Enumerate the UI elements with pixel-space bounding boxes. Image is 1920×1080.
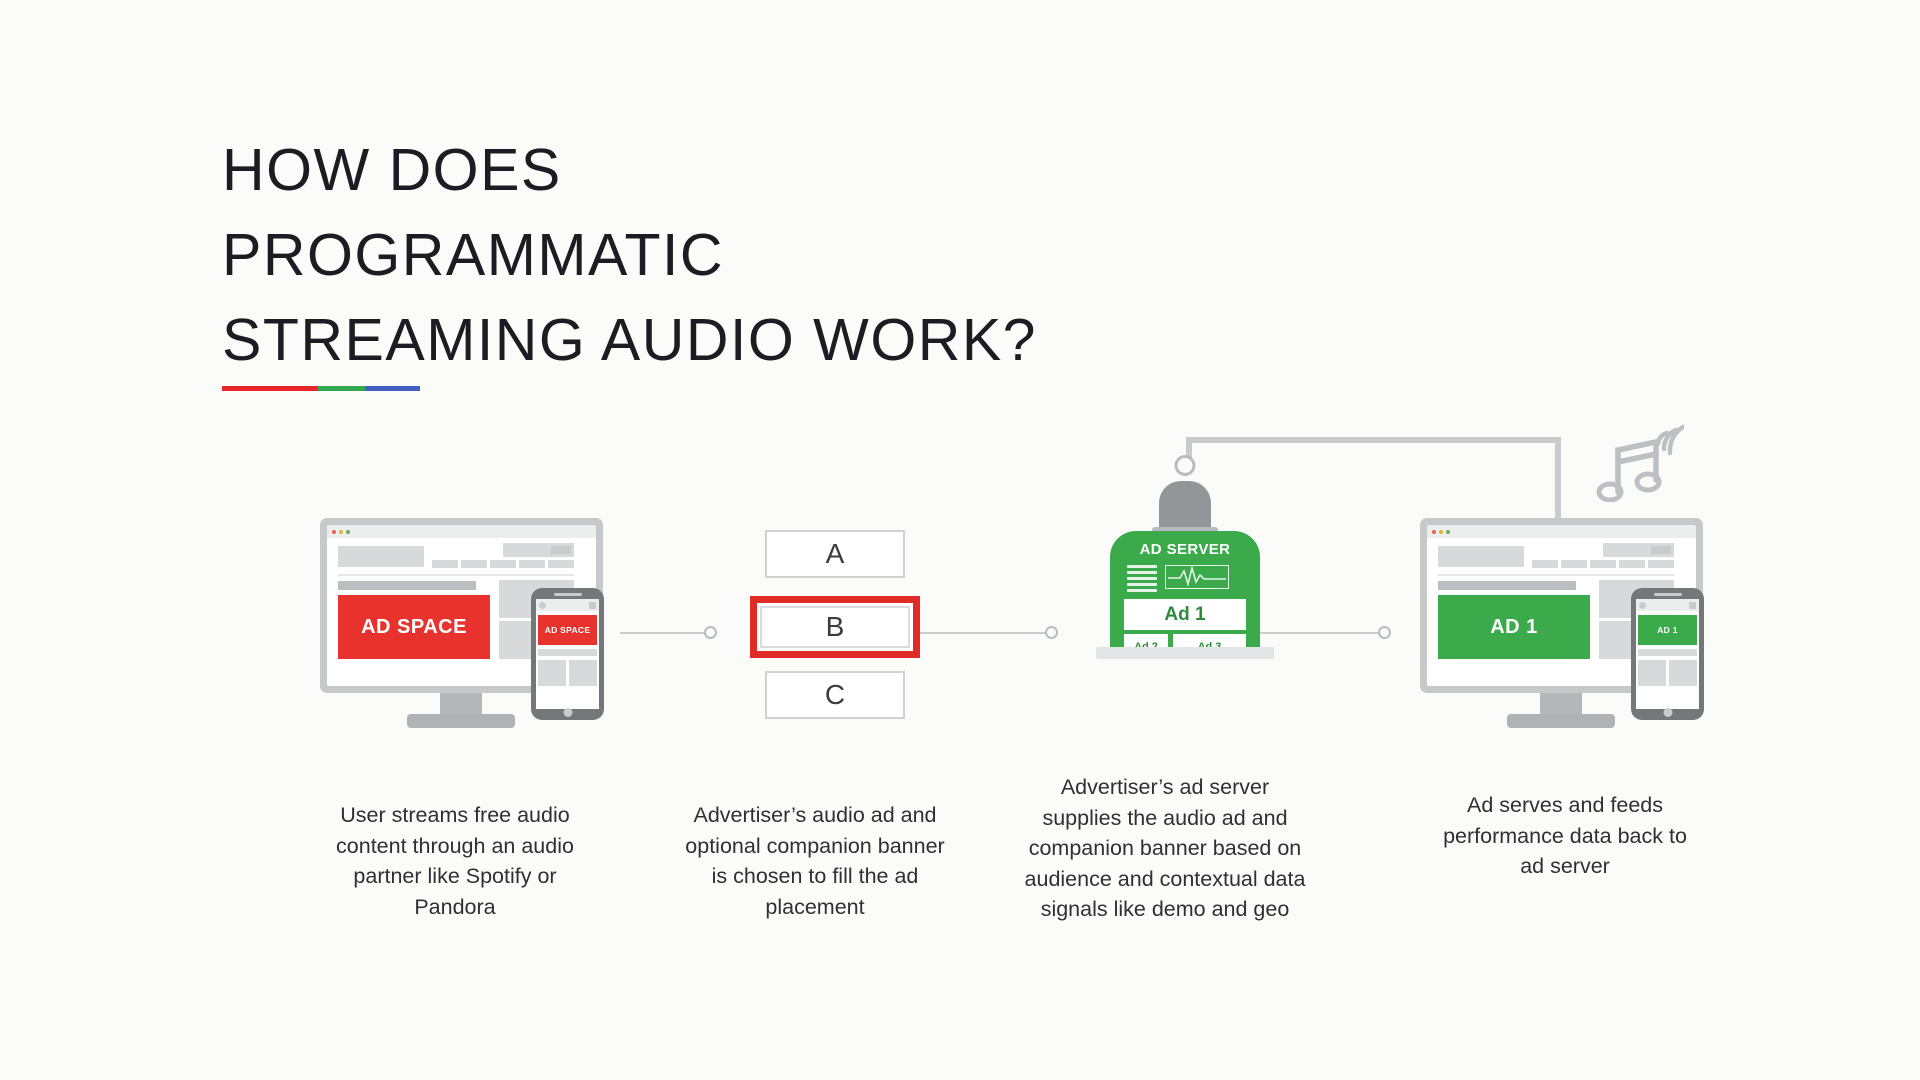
phone-browser-bar-2: [1636, 599, 1699, 611]
browser-dot-green: [346, 530, 350, 534]
music-note-icon: [1588, 422, 1684, 507]
page-nav-block-1: [1532, 560, 1558, 568]
browser-dot-green: [1446, 530, 1450, 534]
process-diagram: AD SPACE AD SPACE: [0, 0, 1920, 1080]
browser-dot-yellow: [339, 530, 343, 534]
phone-content-bar: [1638, 649, 1697, 656]
page-nav-block-1: [432, 560, 458, 568]
desktop-ad-banner-1[interactable]: AD SPACE: [338, 595, 490, 659]
connector-line-1: [620, 632, 710, 634]
ad-server-body: AD SERVER Ad 1 Ad 2 Ad 3: [1110, 531, 1260, 651]
page-nav-block-5: [1648, 560, 1674, 568]
phone-home-button-1: [563, 708, 572, 717]
page-search-inner: [551, 546, 571, 554]
step-2-caption: Advertiser’s audio ad and optional compa…: [680, 800, 950, 922]
option-box-b-selected[interactable]: B: [750, 596, 920, 658]
step-4-caption: Ad serves and feeds performance data bac…: [1440, 790, 1690, 882]
page-header-block: [1438, 546, 1524, 567]
page-nav-block-4: [1619, 560, 1645, 568]
page-title-bar: [1438, 581, 1576, 590]
monitor-power-button-2: [1554, 668, 1569, 683]
ad-server-ring-icon: [1175, 455, 1196, 476]
phone-speaker-1: [554, 593, 582, 596]
phone-tile-right: [569, 660, 597, 686]
ad-server-ad-1[interactable]: Ad 1: [1124, 599, 1246, 630]
waveform-svg: [1166, 566, 1228, 588]
phone-menu-icon: [589, 602, 596, 609]
desktop-ad-banner-2[interactable]: AD 1: [1438, 595, 1590, 659]
ad-server-list-icon: [1127, 565, 1157, 595]
page-search-inner: [1651, 546, 1671, 554]
ad-server-illustration: AD SERVER Ad 1 Ad 2 Ad 3: [1095, 455, 1275, 670]
phone-tile-right: [1669, 660, 1697, 686]
mobile-phone-1: AD SPACE: [531, 588, 604, 720]
page-nav-block-4: [519, 560, 545, 568]
ad-server-base-platform: [1096, 647, 1274, 659]
browser-chrome-bar-1: [327, 525, 596, 539]
step-3-caption: Advertiser’s ad server supplies the audi…: [1020, 772, 1310, 925]
browser-chrome-bar-2: [1427, 525, 1696, 539]
monitor-stand-base-2: [1507, 714, 1615, 728]
browser-dot-yellow: [1439, 530, 1443, 534]
connector-ring-3: [1378, 626, 1391, 639]
page-nav-block-2: [461, 560, 487, 568]
browser-dot-red: [332, 530, 336, 534]
ad-server-title: AD SERVER: [1110, 541, 1260, 558]
page-header-block: [338, 546, 424, 567]
browser-dot-red: [1432, 530, 1436, 534]
phone-browser-bar-1: [536, 599, 599, 611]
phone-screen-1: AD SPACE: [536, 599, 599, 709]
option-box-a[interactable]: A: [765, 530, 905, 578]
phone-ad-banner-2[interactable]: AD 1: [1638, 615, 1697, 645]
page-nav-block-5: [548, 560, 574, 568]
phone-tile-left: [1638, 660, 1666, 686]
signal-waves-icon: [1658, 427, 1683, 453]
page-divider: [338, 574, 574, 576]
music-note-svg: [1588, 422, 1684, 502]
phone-speaker-2: [1654, 593, 1682, 596]
slide-root: HOW DOES PROGRAMMATIC STREAMING AUDIO WO…: [0, 0, 1920, 1080]
monitor-stand-base-1: [407, 714, 515, 728]
phone-tile-left: [538, 660, 566, 686]
page-nav-block-2: [1561, 560, 1587, 568]
phone-content-bar: [538, 649, 597, 656]
phone-home-button-2: [1663, 708, 1672, 717]
phone-logo-icon: [1639, 602, 1646, 609]
connector-ring-1: [704, 626, 717, 639]
step-1-device-group: AD SPACE AD SPACE: [320, 518, 620, 733]
phone-logo-icon: [539, 602, 546, 609]
phone-menu-icon: [1689, 602, 1696, 609]
option-box-b-label: B: [760, 606, 910, 648]
phone-ad-banner-1[interactable]: AD SPACE: [538, 615, 597, 645]
ad-server-dome: [1159, 481, 1211, 533]
ad-server-waveform-icon: [1165, 565, 1229, 589]
option-box-c[interactable]: C: [765, 671, 905, 719]
step-1-caption: User streams free audio content through …: [330, 800, 580, 922]
connector-ring-2: [1045, 626, 1058, 639]
page-title-bar: [338, 581, 476, 590]
phone-screen-2: AD 1: [1636, 599, 1699, 709]
connector-line-2: [920, 632, 1050, 634]
mobile-phone-2: AD 1: [1631, 588, 1704, 720]
page-divider: [1438, 574, 1674, 576]
feedback-loop-horizontal: [1186, 437, 1557, 443]
monitor-power-button-1: [454, 668, 469, 683]
step-4-device-group: AD 1 AD 1: [1420, 518, 1720, 733]
page-nav-block-3: [490, 560, 516, 568]
page-nav-block-3: [1590, 560, 1616, 568]
